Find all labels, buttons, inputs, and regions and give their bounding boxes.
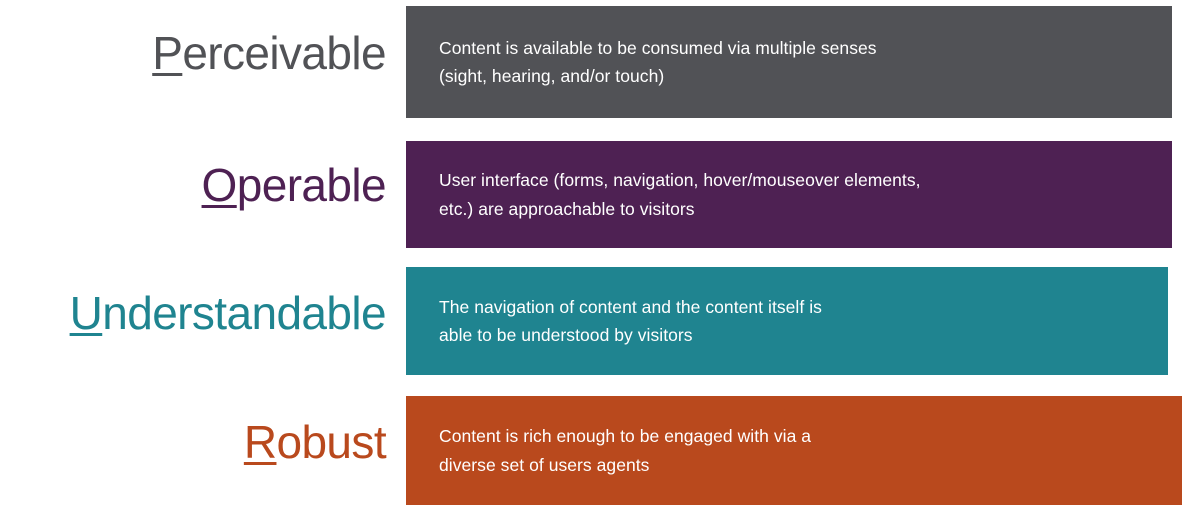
principle-label-rest-robust: obust xyxy=(276,416,386,468)
principle-label-understandable: Understandable xyxy=(0,290,386,336)
principle-label-rest-perceivable: erceivable xyxy=(182,27,386,79)
principle-label-perceivable: Perceivable xyxy=(0,30,386,76)
principle-label-operable: Operable xyxy=(0,162,386,208)
principle-initial-r: R xyxy=(244,416,277,468)
principle-label-robust: Robust xyxy=(0,419,386,465)
principle-initial-u: U xyxy=(70,287,103,339)
principle-description-operable: User interface (forms, navigation, hover… xyxy=(439,166,1146,223)
principle-description-robust: Content is rich enough to be engaged wit… xyxy=(439,422,1156,479)
principle-initial-o: O xyxy=(202,159,237,211)
principle-description-perceivable: Content is available to be consumed via … xyxy=(439,34,1146,91)
principle-label-rest-understandable: nderstandable xyxy=(102,287,386,339)
principle-initial-p: P xyxy=(152,27,182,79)
principle-bar-robust: Content is rich enough to be engaged wit… xyxy=(406,396,1182,505)
pour-principles-poster: Perceivable Content is available to be c… xyxy=(0,0,1182,511)
principle-label-rest-operable: perable xyxy=(237,159,386,211)
principle-description-understandable: The navigation of content and the conten… xyxy=(439,293,1142,350)
principle-bar-perceivable: Content is available to be consumed via … xyxy=(406,6,1172,118)
principle-bar-operable: User interface (forms, navigation, hover… xyxy=(406,141,1172,248)
principle-bar-understandable: The navigation of content and the conten… xyxy=(406,267,1168,375)
